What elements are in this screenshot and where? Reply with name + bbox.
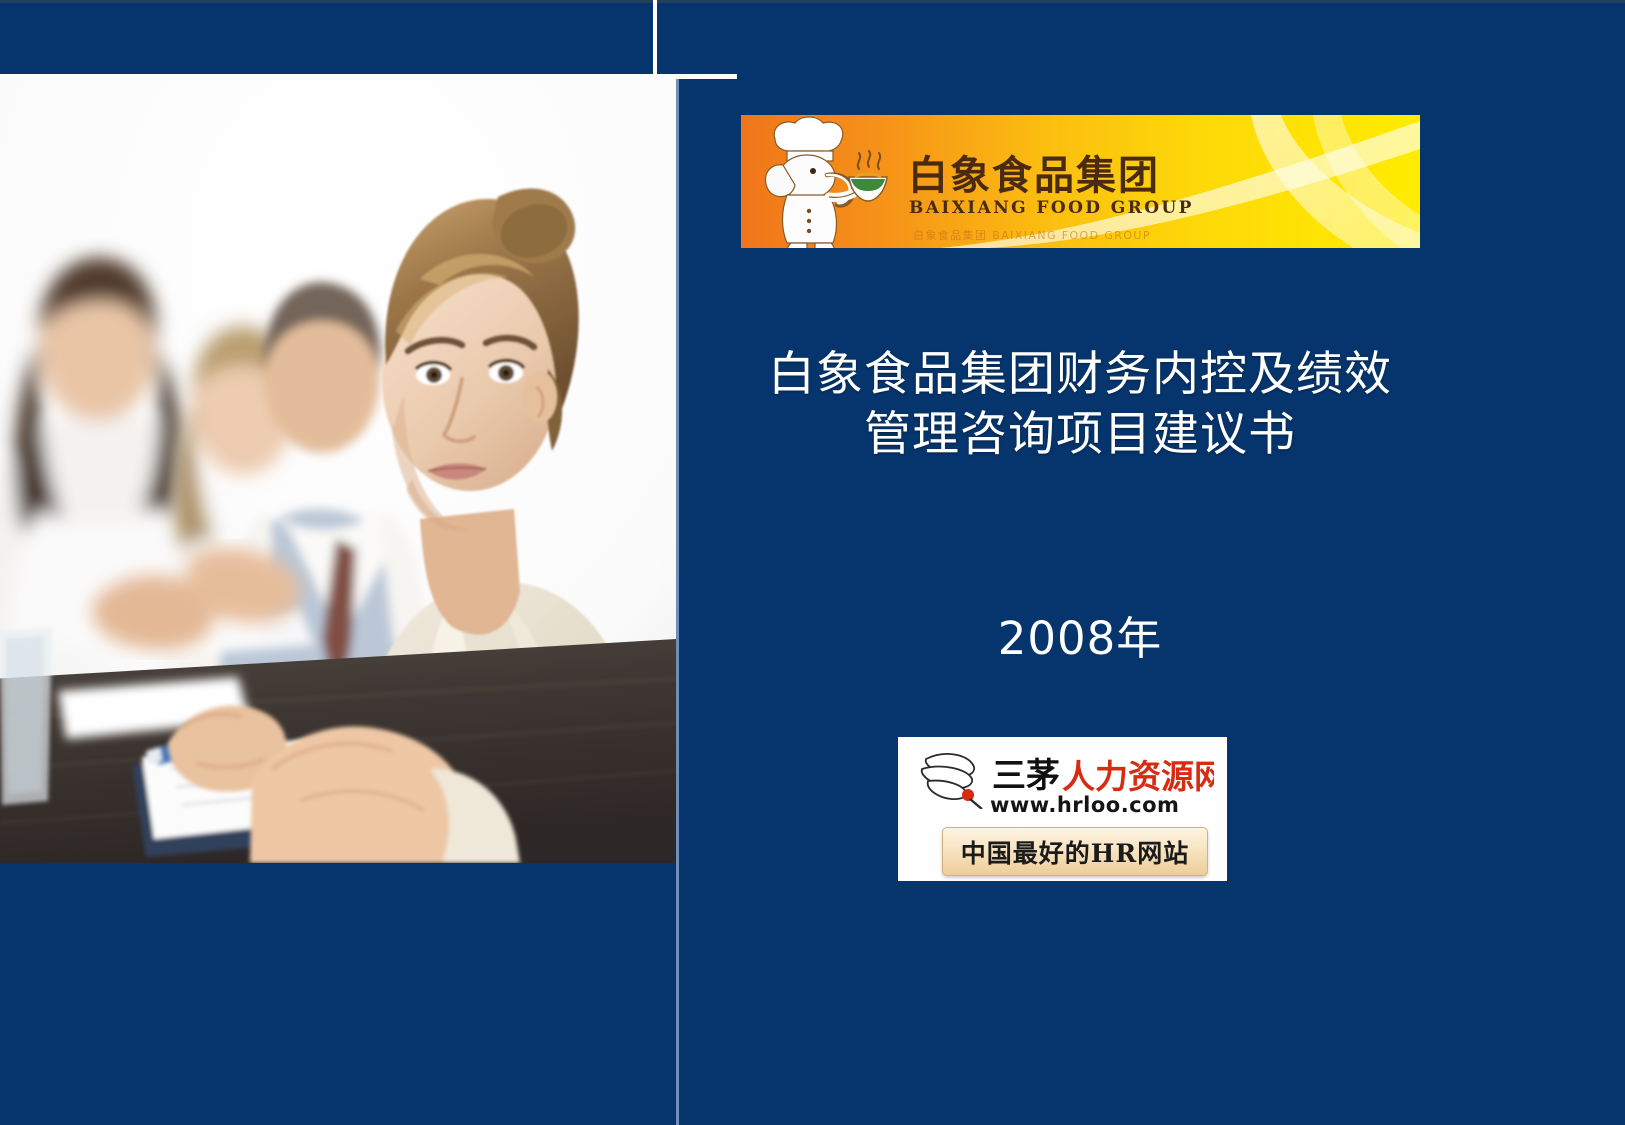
presentation-year: 2008年: [700, 602, 1460, 667]
hrloo-name-black: 三茅: [992, 756, 1060, 796]
hrloo-name-red: 人力资源网: [1062, 757, 1214, 796]
brand-name-en: BAIXIANG FOOD GROUP: [909, 198, 1194, 218]
hrloo-watermark-card[interactable]: 三茅 人力资源网 www.hrloo.com 中国最好的HR网站: [898, 737, 1227, 881]
presentation-title-slide: 白象食品集团 BAIXIANG FOOD GROUP 白象食品集团 BAIXIA…: [0, 0, 1625, 1125]
photo-artwork: [0, 79, 676, 863]
page-title: 白象食品集团财务内控及绩效 管理咨询项目建议书: [700, 345, 1460, 465]
page-title-line-1: 白象食品集团财务内控及绩效: [700, 345, 1460, 405]
brand-name-cn: 白象食品集团: [908, 153, 1160, 199]
banner-artwork: 白象食品集团 BAIXIANG FOOD GROUP 白象食品集团 BAIXIA…: [741, 115, 1420, 248]
baixiang-logo-banner: 白象食品集团 BAIXIANG FOOD GROUP 白象食品集团 BAIXIA…: [741, 115, 1420, 248]
hrloo-url[interactable]: www.hrloo.com: [990, 793, 1179, 817]
vertical-accent-rule: [653, 0, 657, 79]
brand-reflection: 白象食品集团 BAIXIANG FOOD GROUP: [913, 228, 1151, 242]
top-hairline: [0, 0, 1625, 3]
page-title-line-2: 管理咨询项目建议书: [700, 405, 1460, 465]
hrloo-badge[interactable]: 中国最好的HR网站: [942, 827, 1208, 876]
business-meeting-photo: [0, 79, 676, 863]
vertical-divider-rule: [676, 79, 679, 1125]
